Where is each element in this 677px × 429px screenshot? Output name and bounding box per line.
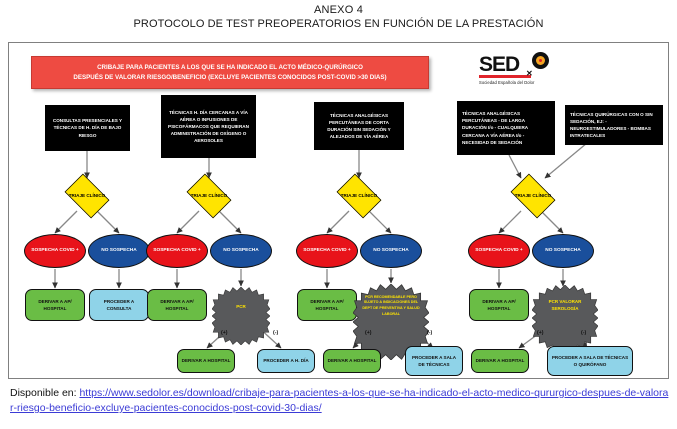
col3-negative-action: PROCEDER A SALA DE TÉCNICAS xyxy=(405,346,463,376)
col2-source-box: TÉCNICAS H. DÍA CERCANAS A VÍA AÉREA O I… xyxy=(161,95,256,158)
col4-suspect-oval: SOSPECHA COVID + xyxy=(468,234,530,268)
col2-suspect-oval: SOSPECHA COVID + xyxy=(146,234,208,268)
col3-test-starburst: PCR RECOMENDABLE PERO SUJETO A INDICACIO… xyxy=(353,284,429,328)
col5-source-box: TÉCNICAS QUIRÚRGICAS CON O SIN SEDACIÓN,… xyxy=(565,105,663,145)
col3-suspect-action: DERIVAR A AP/ HOSPITAL xyxy=(297,289,357,321)
col4-test-starburst: PCR VALORAR SEROLOGÍA xyxy=(532,285,598,327)
col4-triage-diamond: TRIAJE CLÍNICO xyxy=(507,178,559,214)
col4-negative-action: PROCEDER A SALA DE TÉCNICAS O QUIRÓFANO xyxy=(547,346,633,376)
sed-tagline: Sociedad Española del Dolor xyxy=(479,80,589,85)
col3-no-suspect-oval: NO SOSPECHA xyxy=(360,234,422,268)
col2-positive-action: DERIVAR A HOSPITAL xyxy=(177,349,235,373)
col3-source-box: TÉCNICAS ANALGÉSICAS PERCUTÁNEAS DE CORT… xyxy=(314,102,404,150)
col4-negative-sign: (-) xyxy=(581,330,586,336)
col1-no-suspect-oval: NO SOSPECHA xyxy=(88,234,150,268)
col1-triage-diamond: TRIAJE CLÍNICO xyxy=(61,178,113,214)
col4-positive-action: DERIVAR A HOSPITAL xyxy=(471,349,529,373)
source-footer: Disponible en: https://www.sedolor.es/do… xyxy=(10,386,670,416)
col2-negative-sign: (-) xyxy=(273,330,278,336)
col4-suspect-action: DERIVAR A AP/ HOSPITAL xyxy=(469,289,529,321)
source-url-link[interactable]: https://www.sedolor.es/download/cribaje-… xyxy=(10,387,668,414)
logo-swoosh-icon: ✕ xyxy=(526,69,533,78)
logo-circle-icon xyxy=(532,52,549,69)
col4-positive-sign: (+) xyxy=(537,330,543,336)
col3-positive-sign: (+) xyxy=(365,330,371,336)
diagram-frame: CRIBAJE PARA PACIENTES A LOS QUE SE HA I… xyxy=(8,42,669,379)
sed-logo: SED Sociedad Española del Dolor ✕ xyxy=(479,53,589,95)
col2-positive-sign: (+) xyxy=(221,330,227,336)
annex-title: ANEXO 4 xyxy=(0,4,677,16)
protocol-subtitle: PROTOCOLO DE TEST PREOPERATORIOS EN FUNC… xyxy=(0,18,677,30)
col3-triage-diamond: TRIAJE CLÍNICO xyxy=(333,178,385,214)
col1-no-suspect-action: PROCEDER A CONSULTA xyxy=(89,289,149,321)
col1-suspect-oval: SOSPECHA COVID + xyxy=(24,234,86,268)
page-header: ANEXO 4 PROTOCOLO DE TEST PREOPERATORIOS… xyxy=(0,0,677,30)
col1-suspect-action: DERIVAR A AP/ HOSPITAL xyxy=(25,289,85,321)
footer-prefix: Disponible en: xyxy=(10,387,77,399)
col2-no-suspect-oval: NO SOSPECHA xyxy=(210,234,272,268)
col4-source-box: TÉCNICAS ANALGÉSICAS PERCUTÁNEAS - DE LA… xyxy=(457,101,555,155)
col2-negative-action: PROCEDER A H. DÍA xyxy=(257,349,315,373)
screening-banner: CRIBAJE PARA PACIENTES A LOS QUE SE HA I… xyxy=(31,56,429,89)
col2-suspect-action: DERIVAR A AP/ HOSPITAL xyxy=(147,289,207,321)
col2-test-starburst: PCR xyxy=(212,287,270,327)
banner-line-2: DESPUÉS DE VALORAR RIESGO/BENEFICIO (EXC… xyxy=(73,73,386,82)
banner-line-1: CRIBAJE PARA PACIENTES A LOS QUE SE HA I… xyxy=(97,63,363,72)
col2-triage-diamond: TRIAJE CLÍNICO xyxy=(183,178,235,214)
col3-suspect-oval: SOSPECHA COVID + xyxy=(296,234,358,268)
flowchart-canvas: CRIBAJE PARA PACIENTES A LOS QUE SE HA I… xyxy=(9,43,668,378)
col3-positive-action: DERIVAR A HOSPITAL xyxy=(323,349,381,373)
col3-negative-sign: (-) xyxy=(427,330,432,336)
col4-no-suspect-oval: NO SOSPECHA xyxy=(532,234,594,268)
col1-source-box: CONSULTAS PRESENCIALES Y TÉCNICAS DE H. … xyxy=(45,105,130,151)
